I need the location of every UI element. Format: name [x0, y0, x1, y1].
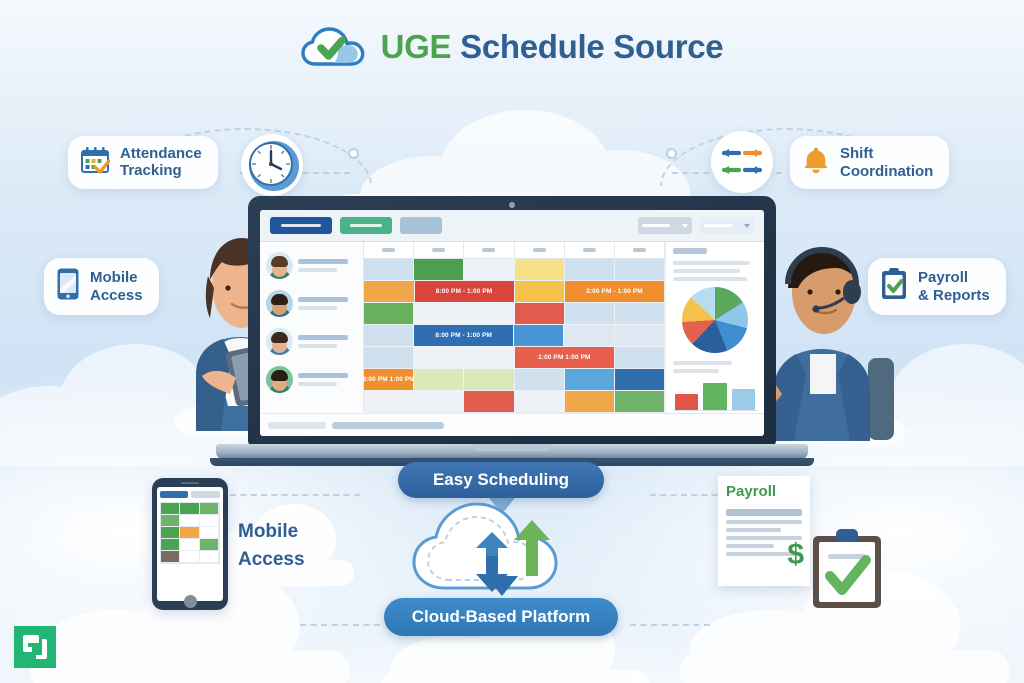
payroll-line — [726, 509, 802, 516]
badge-line-2: & Reports — [918, 287, 990, 304]
badge-line-1: Attendance — [120, 145, 202, 162]
filter-dropdown[interactable] — [638, 217, 692, 234]
smartphone-icon — [56, 267, 80, 306]
employee-name-placeholder — [298, 259, 357, 272]
employee-name-placeholder — [298, 373, 357, 386]
shift-cell[interactable] — [615, 347, 665, 369]
payroll-document-icon: Payroll $ — [718, 476, 810, 586]
shift-cell[interactable] — [615, 303, 665, 325]
shift-cell[interactable] — [364, 281, 415, 303]
schedule-row: 8:00 PM 1:00 PM — [364, 369, 665, 391]
shift-cell[interactable] — [464, 391, 514, 413]
shift-cell[interactable] — [615, 259, 665, 281]
shift-cell[interactable] — [514, 325, 564, 347]
badge-label: Shift Coordination — [840, 145, 933, 180]
shift-cell[interactable] — [515, 369, 565, 391]
shift-cell[interactable] — [414, 369, 464, 391]
payroll-document-title: Payroll — [718, 476, 810, 505]
shift-cell[interactable] — [414, 259, 464, 281]
shift-cell[interactable] — [565, 259, 615, 281]
day-column-header — [615, 242, 665, 259]
shift-cell[interactable] — [364, 303, 414, 325]
swap-arrows-icon — [711, 131, 773, 193]
phone-grid-row — [161, 551, 219, 563]
phone-grid-row — [161, 539, 219, 551]
bar-c — [732, 389, 755, 410]
secondary-action-button[interactable] — [340, 217, 392, 234]
day-column-header — [515, 242, 565, 259]
laptop-base — [216, 444, 808, 459]
badge-line-2: Access — [90, 287, 143, 304]
employee-avatar-4 — [266, 366, 293, 393]
analytics-panel — [666, 242, 764, 413]
badge-label: Payroll & Reports — [918, 269, 990, 304]
dollar-sign-icon: $ — [787, 540, 804, 570]
bell-icon — [802, 145, 830, 180]
app-screen: 8:00 PM - 1:00 PM 2:00 PM - 1:00 PM — [260, 210, 764, 436]
footer-placeholder — [268, 422, 326, 429]
app-body: 8:00 PM - 1:00 PM 2:00 PM - 1:00 PM — [260, 242, 764, 413]
employee-avatar-1 — [266, 252, 293, 279]
connector-line-bottom-right — [630, 624, 710, 626]
shift-time-label: 8:00 PM 1:00 PM — [364, 371, 413, 388]
page-title-rest: Schedule Source — [460, 28, 723, 65]
employee-name-placeholder — [298, 297, 357, 310]
phone-home-button[interactable] — [184, 595, 197, 608]
app-footer — [260, 413, 764, 436]
infographic-canvas: UGE Schedule Source Attendance Tracking — [0, 0, 1024, 683]
shift-cell[interactable] — [364, 325, 414, 347]
shift-cell[interactable] — [464, 369, 514, 391]
panel-text-line — [673, 361, 732, 365]
bar-a — [675, 394, 698, 411]
arrow-down-to-platform — [486, 576, 518, 596]
shift-cell[interactable] — [615, 369, 665, 391]
shift-block[interactable]: 2:00 PM - 1:00 PM — [565, 281, 665, 303]
shift-cell[interactable] — [515, 303, 565, 325]
page-title-brand: UGE — [381, 28, 452, 65]
bottom-label-line-2: Access — [238, 546, 305, 574]
schedule-grid-header — [364, 242, 665, 259]
phone-grid-row — [161, 503, 219, 515]
shift-cell[interactable] — [464, 303, 514, 325]
cloud-platform-pill[interactable]: Cloud-Based Platform — [384, 598, 618, 636]
schedule-row: 8:00 PM - 1:00 PM — [364, 325, 665, 347]
shift-cell[interactable] — [515, 259, 565, 281]
shift-cell[interactable] — [615, 325, 665, 347]
panel-title-placeholder — [673, 248, 707, 254]
badge-line-1: Mobile — [90, 269, 143, 286]
shift-cell[interactable] — [565, 391, 615, 413]
webcam-dot — [509, 202, 515, 208]
app-toolbar — [260, 210, 764, 242]
shift-time-label: 1:00 PM 1:00 PM — [515, 349, 614, 366]
badge-line-2: Coordination — [840, 163, 933, 180]
list-item[interactable] — [266, 360, 357, 398]
panel-text-line — [673, 277, 747, 281]
shift-block[interactable]: 8:00 PM - 1:00 PM — [414, 325, 514, 347]
bar-chart — [673, 380, 757, 411]
clipboard-check-icon — [810, 528, 884, 610]
shift-cell[interactable] — [414, 391, 464, 413]
list-item[interactable] — [266, 284, 357, 322]
tertiary-action-button[interactable] — [400, 217, 442, 234]
pie-chart — [682, 287, 748, 353]
employee-name-placeholder — [298, 335, 357, 348]
shift-cell[interactable] — [364, 347, 414, 369]
shift-time-label: 8:00 PM - 1:00 PM — [414, 327, 513, 344]
day-column-header — [364, 242, 414, 259]
connector-node-left — [350, 150, 357, 157]
shift-cell[interactable] — [465, 347, 515, 369]
employee-roster-list — [260, 242, 364, 413]
connector-line-bottom — [300, 624, 380, 626]
laptop-mockup: 8:00 PM - 1:00 PM 2:00 PM - 1:00 PM — [248, 196, 776, 446]
bottom-label-line-1: Mobile — [238, 518, 305, 546]
schedule-row — [364, 259, 665, 281]
easy-scheduling-pill[interactable]: Easy Scheduling — [398, 462, 604, 498]
shift-cell[interactable] — [464, 259, 514, 281]
calendar-check-icon — [80, 146, 110, 179]
shift-cell[interactable] — [515, 391, 565, 413]
phone-speaker — [181, 482, 199, 484]
phone-schedule-grid — [160, 502, 220, 564]
shift-cell[interactable] — [565, 369, 615, 391]
list-item[interactable] — [266, 322, 357, 360]
footer-placeholder — [332, 422, 444, 429]
payroll-line — [726, 520, 802, 524]
bar-b — [703, 383, 726, 410]
laptop-lid: 8:00 PM - 1:00 PM 2:00 PM - 1:00 PM — [248, 196, 776, 446]
badge-shift-coordination[interactable]: Shift Coordination — [790, 136, 949, 189]
phone-screen — [157, 487, 223, 601]
badge-mobile-access-top[interactable]: Mobile Access — [44, 258, 159, 315]
page-title: UGE Schedule Source — [381, 28, 724, 66]
payroll-line — [726, 528, 781, 532]
day-column-header — [464, 242, 514, 259]
schedule-grid[interactable]: 8:00 PM - 1:00 PM 2:00 PM - 1:00 PM — [364, 242, 666, 413]
payroll-line — [726, 544, 774, 548]
phone-grid-row — [161, 527, 219, 539]
primary-action-button[interactable] — [270, 217, 332, 234]
schedule-row — [364, 303, 665, 325]
badge-label: Attendance Tracking — [120, 145, 202, 180]
clock-icon — [241, 134, 303, 196]
range-dropdown[interactable] — [700, 217, 754, 234]
schedule-row: 1:00 PM 1:00 PM — [364, 347, 665, 369]
panel-text-line — [673, 261, 750, 265]
shift-cell[interactable] — [565, 303, 615, 325]
panel-text-line — [673, 269, 740, 273]
shift-cell[interactable] — [364, 391, 414, 413]
watermark-logo — [14, 626, 56, 668]
shift-time-label: 2:00 PM - 1:00 PM — [565, 283, 664, 300]
connector-line-midleft — [230, 494, 360, 496]
connector-node-right — [668, 150, 675, 157]
employee-avatar-3 — [266, 328, 293, 355]
day-column-header — [414, 242, 464, 259]
shift-cell[interactable] — [414, 347, 464, 369]
cloud-check-logo-icon — [301, 24, 367, 70]
shift-block[interactable]: 8:00 PM 1:00 PM — [364, 369, 414, 391]
phone-grid-row — [161, 515, 219, 527]
badge-line-1: Shift — [840, 145, 933, 162]
page-header: UGE Schedule Source — [0, 24, 1024, 70]
shift-block[interactable]: 1:00 PM 1:00 PM — [515, 347, 615, 369]
bottom-mobile-access-label: Mobile Access — [238, 518, 305, 573]
badge-line-2: Tracking — [120, 162, 202, 179]
phone-schedule-icon — [152, 478, 228, 610]
shift-cell[interactable] — [414, 303, 464, 325]
schedule-row — [364, 391, 665, 413]
shift-cell[interactable] — [515, 281, 566, 303]
badge-label: Mobile Access — [90, 269, 143, 304]
shift-cell[interactable] — [615, 391, 665, 413]
list-item[interactable] — [266, 246, 357, 284]
day-column-header — [565, 242, 615, 259]
badge-line-1: Payroll — [918, 269, 990, 286]
shift-cell[interactable] — [364, 259, 414, 281]
badge-attendance-tracking[interactable]: Attendance Tracking — [68, 136, 218, 189]
panel-text-line — [673, 369, 719, 373]
shift-block[interactable]: 8:00 PM - 1:00 PM — [415, 281, 515, 303]
schedule-row: 8:00 PM - 1:00 PM 2:00 PM - 1:00 PM — [364, 281, 665, 303]
employee-avatar-2 — [266, 290, 293, 317]
shift-cell[interactable] — [564, 325, 614, 347]
phone-toolbar — [160, 491, 220, 498]
shift-time-label: 8:00 PM - 1:00 PM — [415, 283, 514, 300]
